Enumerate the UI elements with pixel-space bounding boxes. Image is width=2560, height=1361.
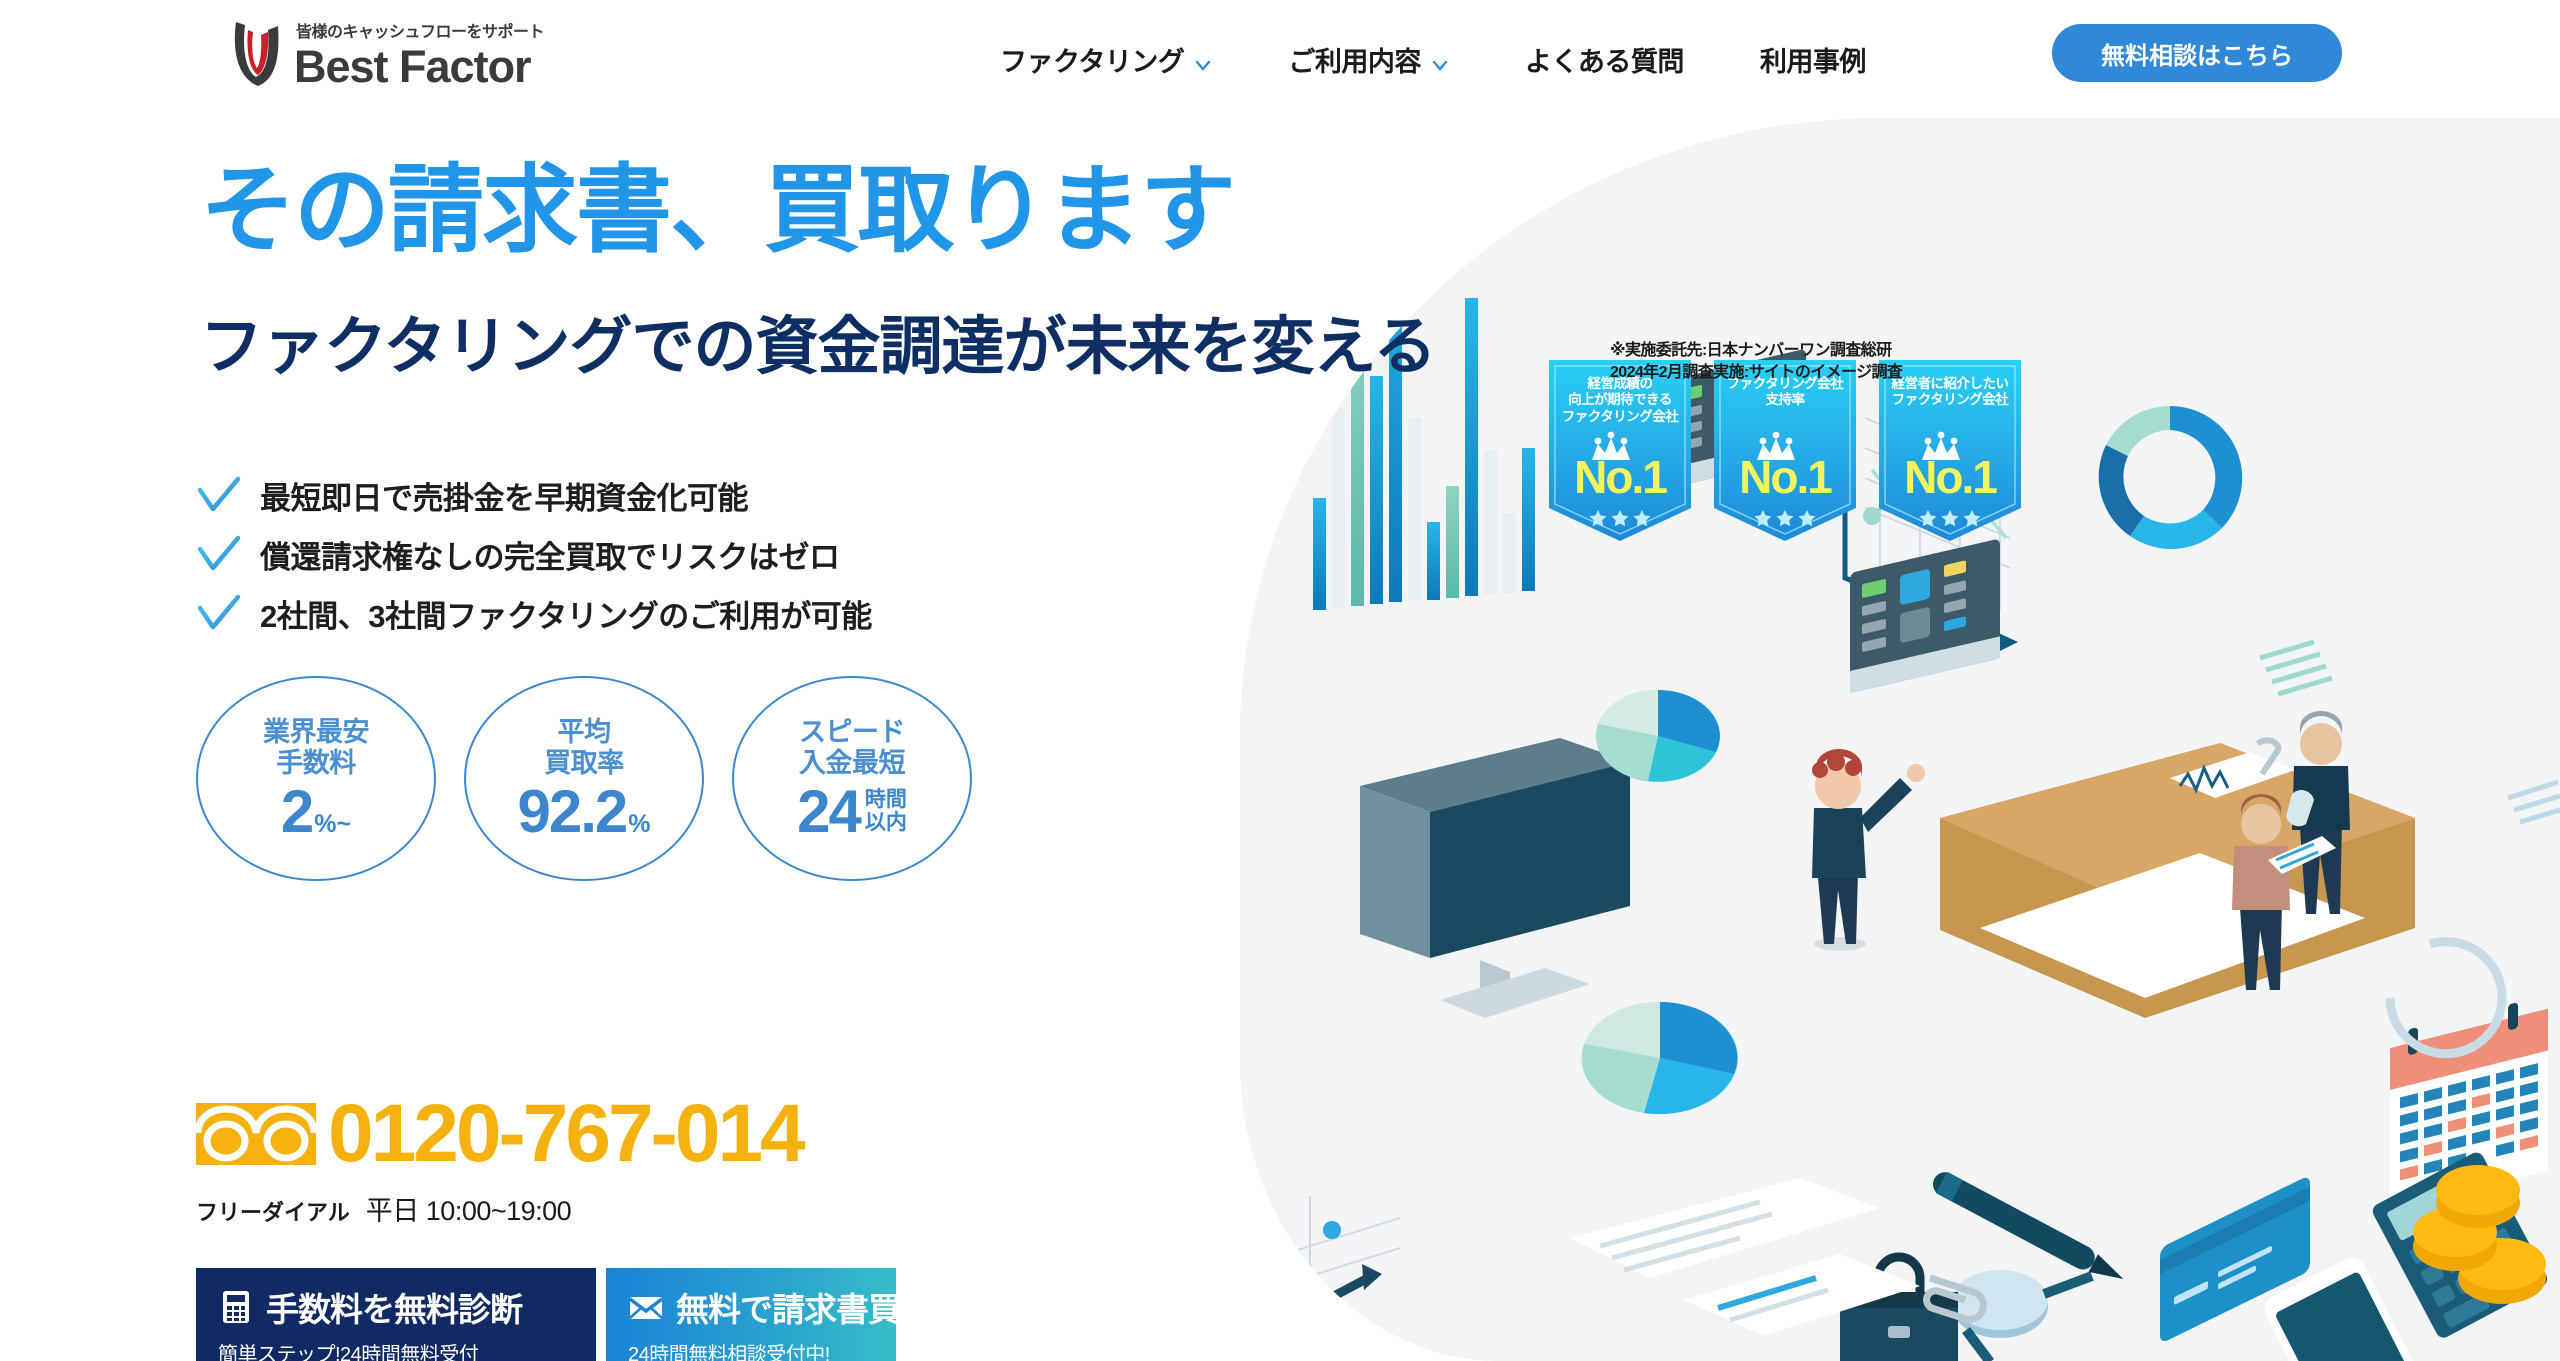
cta-subtitle: 簡単ステップ!24時間無料受付 [218, 1338, 596, 1361]
badge-rank: No.1 [1710, 454, 1860, 500]
stat-label-line2: 入金最短 [799, 748, 905, 778]
logo-tagline-text: 皆様のキャッシュフローをサポート [296, 22, 544, 41]
phone-subtext: フリーダイアル 平日 10:00~19:00 [196, 1189, 803, 1228]
pie-chart-graphic-1 [1596, 690, 1720, 782]
badge-rank: No.1 [1875, 454, 2025, 500]
stat-unit-line1: 時間 [865, 788, 907, 811]
stat-circle-speed: スピード 入金最短 24 時間 以内 [732, 676, 972, 881]
main-navigation: ファクタリング ご利用内容 よくある質問 利用事例 [1000, 0, 1866, 118]
person-presenter-graphic [1812, 749, 1925, 951]
stat-unit-line2: 以内 [865, 811, 907, 834]
nav-item-services[interactable]: ご利用内容 [1288, 40, 1449, 79]
stat-circle-fee: 業界最安 手数料 2 %~ [196, 676, 436, 881]
illustration-svg [1240, 118, 2560, 1361]
hero-page: 経営成績の向上が期待できるファクタリング会社 No.1 ファクタリング会社支持率 [0, 0, 2560, 1361]
stat-number: 92.2 [517, 783, 626, 840]
stat-unit: % [628, 810, 650, 839]
nav-label: 利用事例 [1760, 40, 1866, 79]
phone-hours: 平日 10:00~19:00 [366, 1189, 571, 1228]
chevron-down-icon [1431, 50, 1449, 68]
stat-label: スピード 入金最短 [799, 717, 905, 779]
disclaimer-line-1: ※実施委託先:日本ナンバーワン調査総研 [1610, 340, 1902, 362]
nav-label: よくある質問 [1525, 40, 1684, 79]
pen-graphic [1929, 1168, 2129, 1290]
hero-subheadline: ファクタリングでの資金調達が未来を変える [200, 316, 1436, 379]
check-icon [196, 535, 242, 575]
phone-block: 0120-767-014 フリーダイアル 平日 10:00~19:00 [196, 1093, 803, 1228]
header-consult-button[interactable]: 無料相談はこちら [2052, 24, 2342, 82]
checklist-item: 最短即日で売掛金を早期資金化可能 [196, 466, 872, 525]
phone-number[interactable]: 0120-767-014 [328, 1093, 803, 1175]
free-consult-button[interactable]: 無料で請求書買取相談 24時間無料相談受付中! [606, 1268, 896, 1361]
check-icon [196, 476, 242, 516]
hero-stat-group: 業界最安 手数料 2 %~ 平均 買取率 92.2 % [196, 676, 972, 881]
phone-type-label: フリーダイアル [196, 1195, 350, 1227]
stat-label-line2: 買取率 [544, 748, 624, 778]
chevron-down-icon [1194, 50, 1212, 68]
check-icon [196, 594, 242, 634]
stat-unit: 時間 以内 [865, 788, 907, 834]
stat-label-line2: 手数料 [276, 748, 356, 778]
survey-disclaimer: ※実施委託先:日本ナンバーワン調査総研 2024年2月調査実施:サイトのイメージ… [1610, 340, 1902, 383]
stat-unit: %~ [314, 810, 351, 839]
nav-label: ご利用内容 [1288, 40, 1421, 79]
hero-illustration-panel: 経営成績の向上が期待できるファクタリング会社 No.1 ファクタリング会社支持率 [1240, 118, 2560, 1361]
checklist-label: 2社間、3社間ファクタリングのご利用が可能 [260, 591, 872, 636]
business-illustration [1240, 118, 2560, 1361]
checklist-label: 最短即日で売掛金を早期資金化可能 [260, 473, 748, 518]
calculator-icon [218, 1289, 254, 1325]
donut-chart-graphic [2099, 406, 2242, 549]
stat-label: 平均 買取率 [544, 717, 624, 779]
stat-value: 92.2 % [517, 783, 650, 840]
logo-icon: 皆様のキャッシュフローをサポート Best Factor [218, 16, 588, 96]
site-header: 皆様のキャッシュフローをサポート Best Factor ファクタリング ご利用… [0, 0, 2560, 118]
stat-number: 24 [797, 783, 860, 840]
badge-label: 経営成績の向上が期待できるファクタリング会社 [1545, 376, 1695, 425]
mail-icon [628, 1289, 664, 1325]
cta-subtitle: 24時間無料相談受付中! [628, 1338, 896, 1361]
cta-main-row: 無料で請求書買取相談 [628, 1283, 896, 1331]
free-diagnosis-button[interactable]: 手数料を無料診断 簡単ステップ!24時間無料受付 [196, 1268, 596, 1361]
decor-arrow-graphic [1240, 1196, 1400, 1348]
decor-lines-graphic-2 [2508, 782, 2560, 822]
hero-headline: その請求書、買取ります [200, 163, 1234, 259]
cta-main-row: 手数料を無料診断 [218, 1283, 596, 1331]
stat-label: 業界最安 手数料 [263, 717, 369, 779]
cta-title: 手数料を無料診断 [266, 1283, 522, 1331]
no1-badge: 経営成績の向上が期待できるファクタリング会社 No.1 [1545, 358, 1695, 543]
disclaimer-line-2: 2024年2月調査実施:サイトのイメージ調査 [1610, 362, 1902, 384]
hero-cta-group: 手数料を無料診断 簡単ステップ!24時間無料受付 無料で請求書買取相談 24時 [196, 1268, 896, 1361]
freedial-icon [196, 1103, 316, 1165]
checklist-label: 償還請求権なしの完全買取でリスクはゼロ [260, 532, 840, 577]
stat-circle-purchase-rate: 平均 買取率 92.2 % [464, 676, 704, 881]
bar-chart-graphic [1313, 238, 1535, 610]
stat-number: 2 [281, 783, 312, 840]
phone-row[interactable]: 0120-767-014 [196, 1093, 803, 1175]
cta-title: 無料で請求書買取相談 [676, 1283, 996, 1331]
monitor-graphic [1360, 738, 1630, 1018]
badge-rank: No.1 [1545, 454, 1695, 500]
stat-label-line1: スピード [799, 717, 905, 747]
stat-value: 24 時間 以内 [797, 783, 907, 840]
checklist-item: 2社間、3社間ファクタリングのご利用が可能 [196, 584, 872, 643]
logo-wordmark-text: Best Factor [294, 41, 531, 92]
hero-checklist: 最短即日で売掛金を早期資金化可能 償還請求権なしの完全買取でリスクはゼロ 2社間… [196, 466, 872, 643]
nav-item-cases[interactable]: 利用事例 [1760, 40, 1866, 79]
nav-label: ファクタリング [1000, 40, 1184, 79]
no1-badge-group: 経営成績の向上が期待できるファクタリング会社 No.1 ファクタリング会社支持率 [1545, 358, 2025, 543]
no1-badge: 経営者に紹介したいファクタリング会社 No.1 [1875, 358, 2025, 543]
nav-item-factoring[interactable]: ファクタリング [1000, 40, 1212, 79]
no1-badge: ファクタリング会社支持率 No.1 [1710, 358, 1860, 543]
brand-logo[interactable]: 皆様のキャッシュフローをサポート Best Factor [218, 16, 588, 96]
stat-label-line1: 業界最安 [263, 717, 369, 747]
checklist-item: 償還請求権なしの完全買取でリスクはゼロ [196, 525, 872, 584]
nav-item-faq[interactable]: よくある質問 [1525, 40, 1684, 79]
pie-chart-graphic-2 [1581, 1002, 1738, 1114]
stat-value: 2 %~ [281, 783, 351, 840]
decor-lines-graphic [2260, 642, 2332, 694]
stat-label-line1: 平均 [558, 717, 611, 747]
tablet-graphic-2 [1850, 538, 2000, 693]
